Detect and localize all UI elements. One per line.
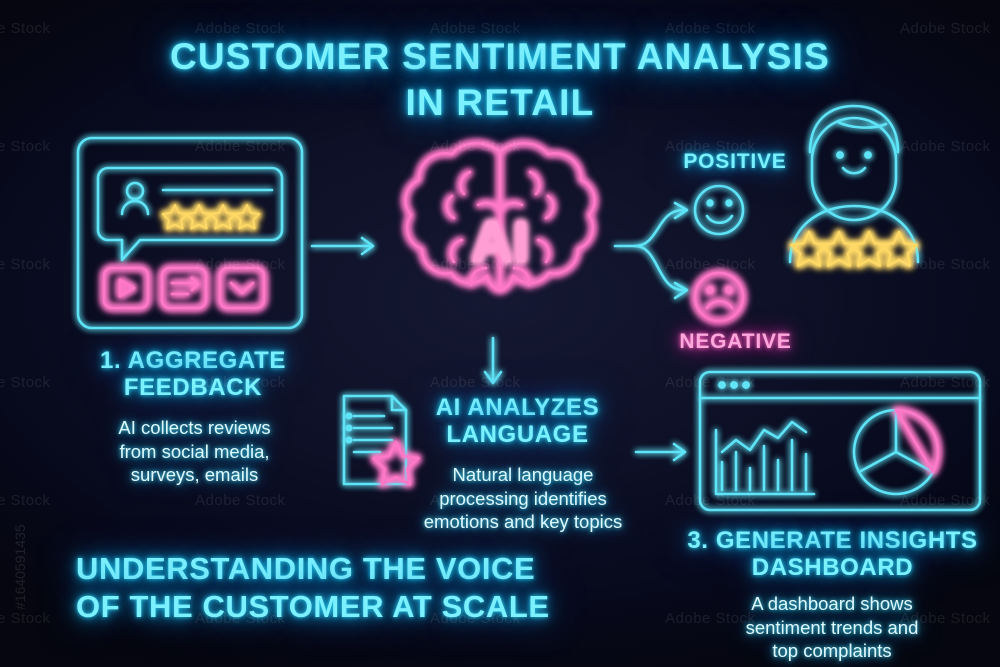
negative-label: NEGATIVE xyxy=(648,330,823,354)
step-2-body: Natural languageprocessing identifiesemo… xyxy=(392,463,654,534)
arrow-document-to-dashboard xyxy=(636,444,685,460)
rating-stars-small xyxy=(163,205,260,229)
step-1-heading: 1. AGGREGATEFEEDBACK xyxy=(78,348,308,402)
arrow-feedback-to-brain xyxy=(312,238,373,254)
feedback-buttons xyxy=(104,268,264,308)
negative-face-icon xyxy=(695,273,743,321)
feedback-panel-icon xyxy=(78,138,302,328)
positive-face-icon xyxy=(695,186,743,234)
tagline: UNDERSTANDING THE VOICEOF THE CUSTOMER A… xyxy=(76,550,596,626)
rating-stars-large xyxy=(791,232,916,266)
arrow-brain-to-document xyxy=(485,338,501,383)
step-1-body: AI collects reviewsfrom social media,sur… xyxy=(72,416,317,487)
dashboard-icon xyxy=(700,372,980,510)
step-2-heading: AI ANALYZESLANGUAGE xyxy=(400,395,635,449)
arrow-brain-to-sentiment xyxy=(615,203,687,298)
step-3-body: A dashboard showssentiment trends andtop… xyxy=(672,592,992,663)
positive-label: POSITIVE xyxy=(655,150,815,174)
step-3-heading: 3. GENERATE INSIGHTSDASHBOARD xyxy=(660,528,1000,582)
infographic-canvas: CUSTOMER SENTIMENT ANALYSIS IN RETAIL xyxy=(0,0,1000,667)
customer-avatar-icon xyxy=(790,106,918,262)
brain-ai-label: AI xyxy=(471,210,529,275)
